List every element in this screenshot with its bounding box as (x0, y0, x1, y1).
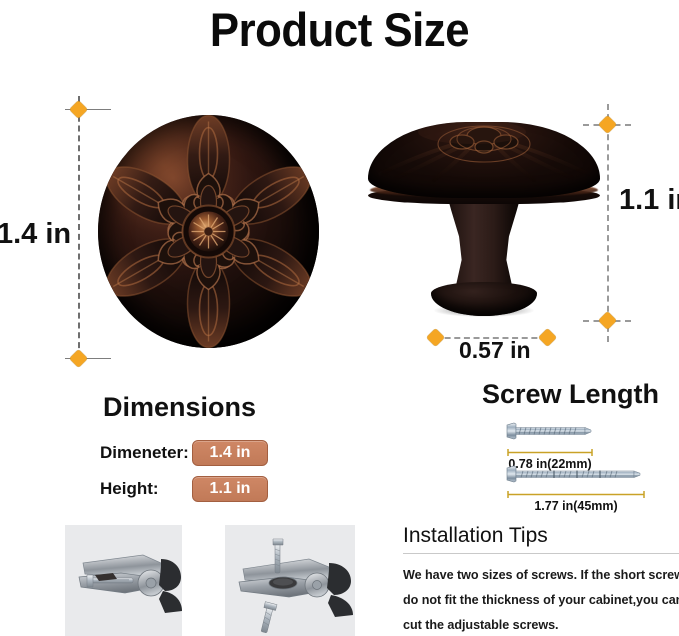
left-dimension-bottom-marker (69, 349, 87, 367)
right-height-label: 1.1 in (619, 184, 679, 217)
knob-face-body (98, 115, 319, 348)
dimensions-row-height: Height: 1.1 in (100, 476, 268, 502)
page-title: Product Size (24, 2, 655, 58)
knob-profile-view (368, 122, 600, 329)
left-dimension-dashed-line (78, 96, 80, 358)
knob-floral-relief (98, 115, 319, 348)
short-screw-icon (505, 420, 595, 442)
dimensions-row-diameter-badge: 1.4 in (192, 440, 268, 466)
right-height-dashed-line (607, 104, 609, 342)
knob-cap (368, 122, 600, 198)
right-height-bottom-marker (598, 311, 616, 329)
right-height-top-marker (598, 115, 616, 133)
dimensions-row-diameter-key: Dimeneter: (100, 443, 192, 463)
long-screw-measure-bar (506, 490, 646, 499)
pliers-cutting-screw-photo (65, 525, 182, 636)
dimensions-row-height-badge: 1.1 in (192, 476, 268, 502)
short-screw-graphic (505, 420, 595, 442)
pliers-with-cut-screw-photo (225, 525, 355, 636)
long-adjustable-screw-icon (505, 463, 643, 485)
installation-tips-divider (403, 553, 679, 554)
base-width-right-marker (538, 328, 556, 346)
short-screw-measure-bar (506, 448, 594, 457)
installation-tips-line-3: cut the adjustable screws. (403, 618, 558, 632)
knob-cap-relief (368, 122, 600, 198)
knob-face-view (98, 115, 319, 348)
screw-length-heading: Screw Length (482, 379, 659, 410)
dimensions-row-diameter: Dimeneter: 1.4 in (100, 440, 268, 466)
long-screw-graphic (505, 463, 643, 485)
installation-tips-line-2: do not fit the thickness of your cabinet… (403, 593, 679, 607)
dimensions-heading: Dimensions (103, 392, 256, 423)
long-screw-caption: 1.77 in(45mm) (506, 499, 646, 513)
product-size-infographic: Product Size (0, 0, 679, 636)
dimensions-row-height-key: Height: (100, 479, 192, 499)
base-width-label: 0.57 in (459, 337, 531, 364)
left-dimension-label: 1.4 in (0, 218, 71, 251)
base-width-left-marker (426, 328, 444, 346)
left-dimension-top-marker (69, 100, 87, 118)
installation-tips-heading: Installation Tips (403, 524, 548, 548)
installation-tips-line-1: We have two sizes of screws. If the shor… (403, 568, 679, 582)
pliers-with-cut-screw-illustration (225, 525, 355, 636)
pliers-cutting-screw-illustration (65, 525, 182, 636)
